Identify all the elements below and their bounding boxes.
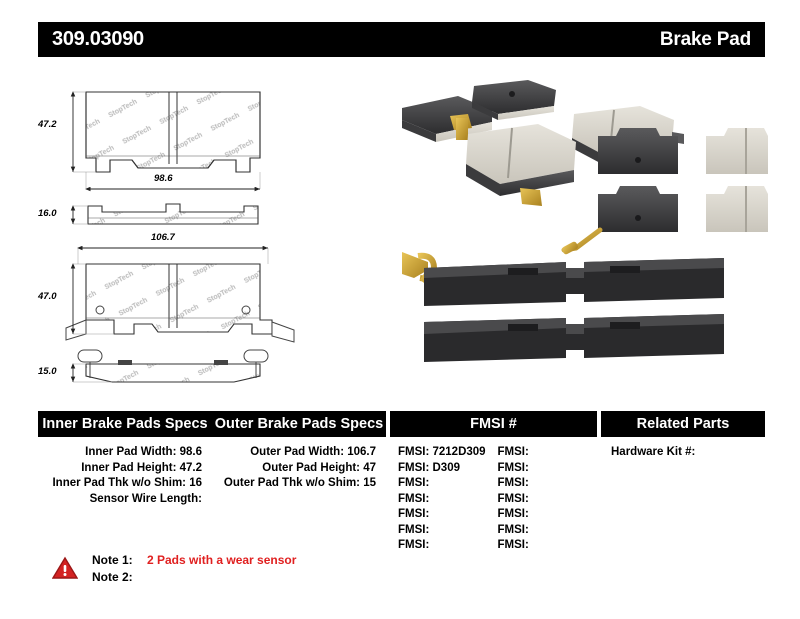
- fmsi-row: FMSI:: [498, 538, 598, 554]
- product-photos: [388, 72, 768, 387]
- fmsi-row: FMSI:: [398, 476, 498, 492]
- part-number: 309.03090: [52, 28, 144, 51]
- fmsi-row: FMSI:: [498, 492, 598, 508]
- header-bar: 309.03090 Brake Pad: [38, 22, 765, 57]
- header-related-parts: Related Parts: [601, 411, 765, 437]
- fmsi-row: FMSI:: [398, 523, 498, 539]
- inner-pad-thickness-label: 16.0: [38, 208, 57, 219]
- spec-row: Outer Pad Width: 106.7: [212, 445, 376, 461]
- outer-pad-height-label: 47.0: [38, 291, 57, 302]
- inner-pad-height-label: 47.2: [38, 119, 57, 130]
- inner-pad-width-dimension: [86, 172, 260, 189]
- inner-pad-front-view: [86, 92, 260, 172]
- notes-section: Note 1: 2 Pads with a wear sensor Note 2…: [52, 552, 296, 586]
- related-parts-column: Hardware Kit #:: [597, 445, 765, 554]
- spec-table: Inner Brake Pads Specs Outer Brake Pads …: [38, 411, 765, 554]
- outer-pad-width-label: 106.7: [151, 232, 175, 243]
- inner-pad-thickness-dimension: [73, 206, 88, 224]
- header-fmsi: FMSI #: [390, 411, 597, 437]
- fmsi-subcolumn-2: FMSI: FMSI: FMSI: FMSI: FMSI: FMSI: FMSI…: [498, 445, 598, 554]
- spec-row: Inner Pad Width: 98.6: [38, 445, 202, 461]
- note-1-value: 2 Pads with a wear sensor: [147, 552, 296, 569]
- warning-triangle-icon: [52, 556, 78, 580]
- photo-edge-view-pads: [402, 252, 724, 362]
- header-inner-brake-pads-specs: Inner Brake Pads Specs: [38, 411, 212, 437]
- outer-pad-thickness-label: 15.0: [38, 366, 57, 377]
- header-outer-brake-pads-specs: Outer Brake Pads Specs: [212, 411, 386, 437]
- outer-specs-column: Outer Pad Width: 106.7 Outer Pad Height:…: [212, 445, 390, 554]
- fmsi-row: FMSI: D309: [398, 461, 498, 477]
- related-part-row: Hardware Kit #:: [611, 445, 765, 461]
- pad-dimension-drawings: StopTech: [38, 72, 388, 387]
- fmsi-row: FMSI:: [498, 523, 598, 539]
- fmsi-row: FMSI:: [498, 461, 598, 477]
- outer-pad-width-dimension: [78, 248, 268, 264]
- fmsi-column: FMSI: 7212D309 FMSI: D309 FMSI: FMSI: FM…: [390, 445, 597, 554]
- fmsi-subcolumn-1: FMSI: 7212D309 FMSI: D309 FMSI: FMSI: FM…: [398, 445, 498, 554]
- fmsi-row: FMSI:: [398, 538, 498, 554]
- brake-pad-photographs: [388, 72, 768, 387]
- inner-pad-width-label: 98.6: [154, 173, 173, 184]
- spec-row: Outer Pad Thk w/o Shim: 15: [212, 476, 376, 492]
- page-title: Brake Pad: [660, 29, 751, 51]
- outer-pad-edge-view: [78, 350, 268, 382]
- spec-row: Inner Pad Thk w/o Shim: 16: [38, 476, 202, 492]
- note-2-label: Note 2:: [92, 569, 140, 586]
- note-2-row: Note 2:: [92, 569, 296, 586]
- fmsi-row: FMSI:: [498, 507, 598, 523]
- spec-table-body: Inner Pad Width: 98.6 Inner Pad Height: …: [38, 445, 765, 554]
- note-1-row: Note 1: 2 Pads with a wear sensor: [92, 552, 296, 569]
- note-lines: Note 1: 2 Pads with a wear sensor Note 2…: [92, 552, 296, 586]
- outer-pad-front-view: [66, 264, 294, 342]
- spec-row: Sensor Wire Length:: [38, 492, 202, 508]
- fmsi-row: FMSI: 7212D309: [398, 445, 498, 461]
- fmsi-row: FMSI:: [398, 492, 498, 508]
- spec-row: Inner Pad Height: 47.2: [38, 461, 202, 477]
- spec-table-header-row: Inner Brake Pads Specs Outer Brake Pads …: [38, 411, 765, 437]
- inner-pad-edge-view: [88, 204, 258, 224]
- fmsi-row: FMSI:: [498, 476, 598, 492]
- technical-drawings: StopTech: [38, 72, 388, 387]
- fmsi-row: FMSI:: [498, 445, 598, 461]
- datasheet-page: 309.03090 Brake Pad StopTech: [0, 0, 800, 619]
- fmsi-row: FMSI:: [398, 507, 498, 523]
- inner-specs-column: Inner Pad Width: 98.6 Inner Pad Height: …: [38, 445, 212, 554]
- spec-row: Outer Pad Height: 47: [212, 461, 376, 477]
- note-1-label: Note 1:: [92, 552, 140, 569]
